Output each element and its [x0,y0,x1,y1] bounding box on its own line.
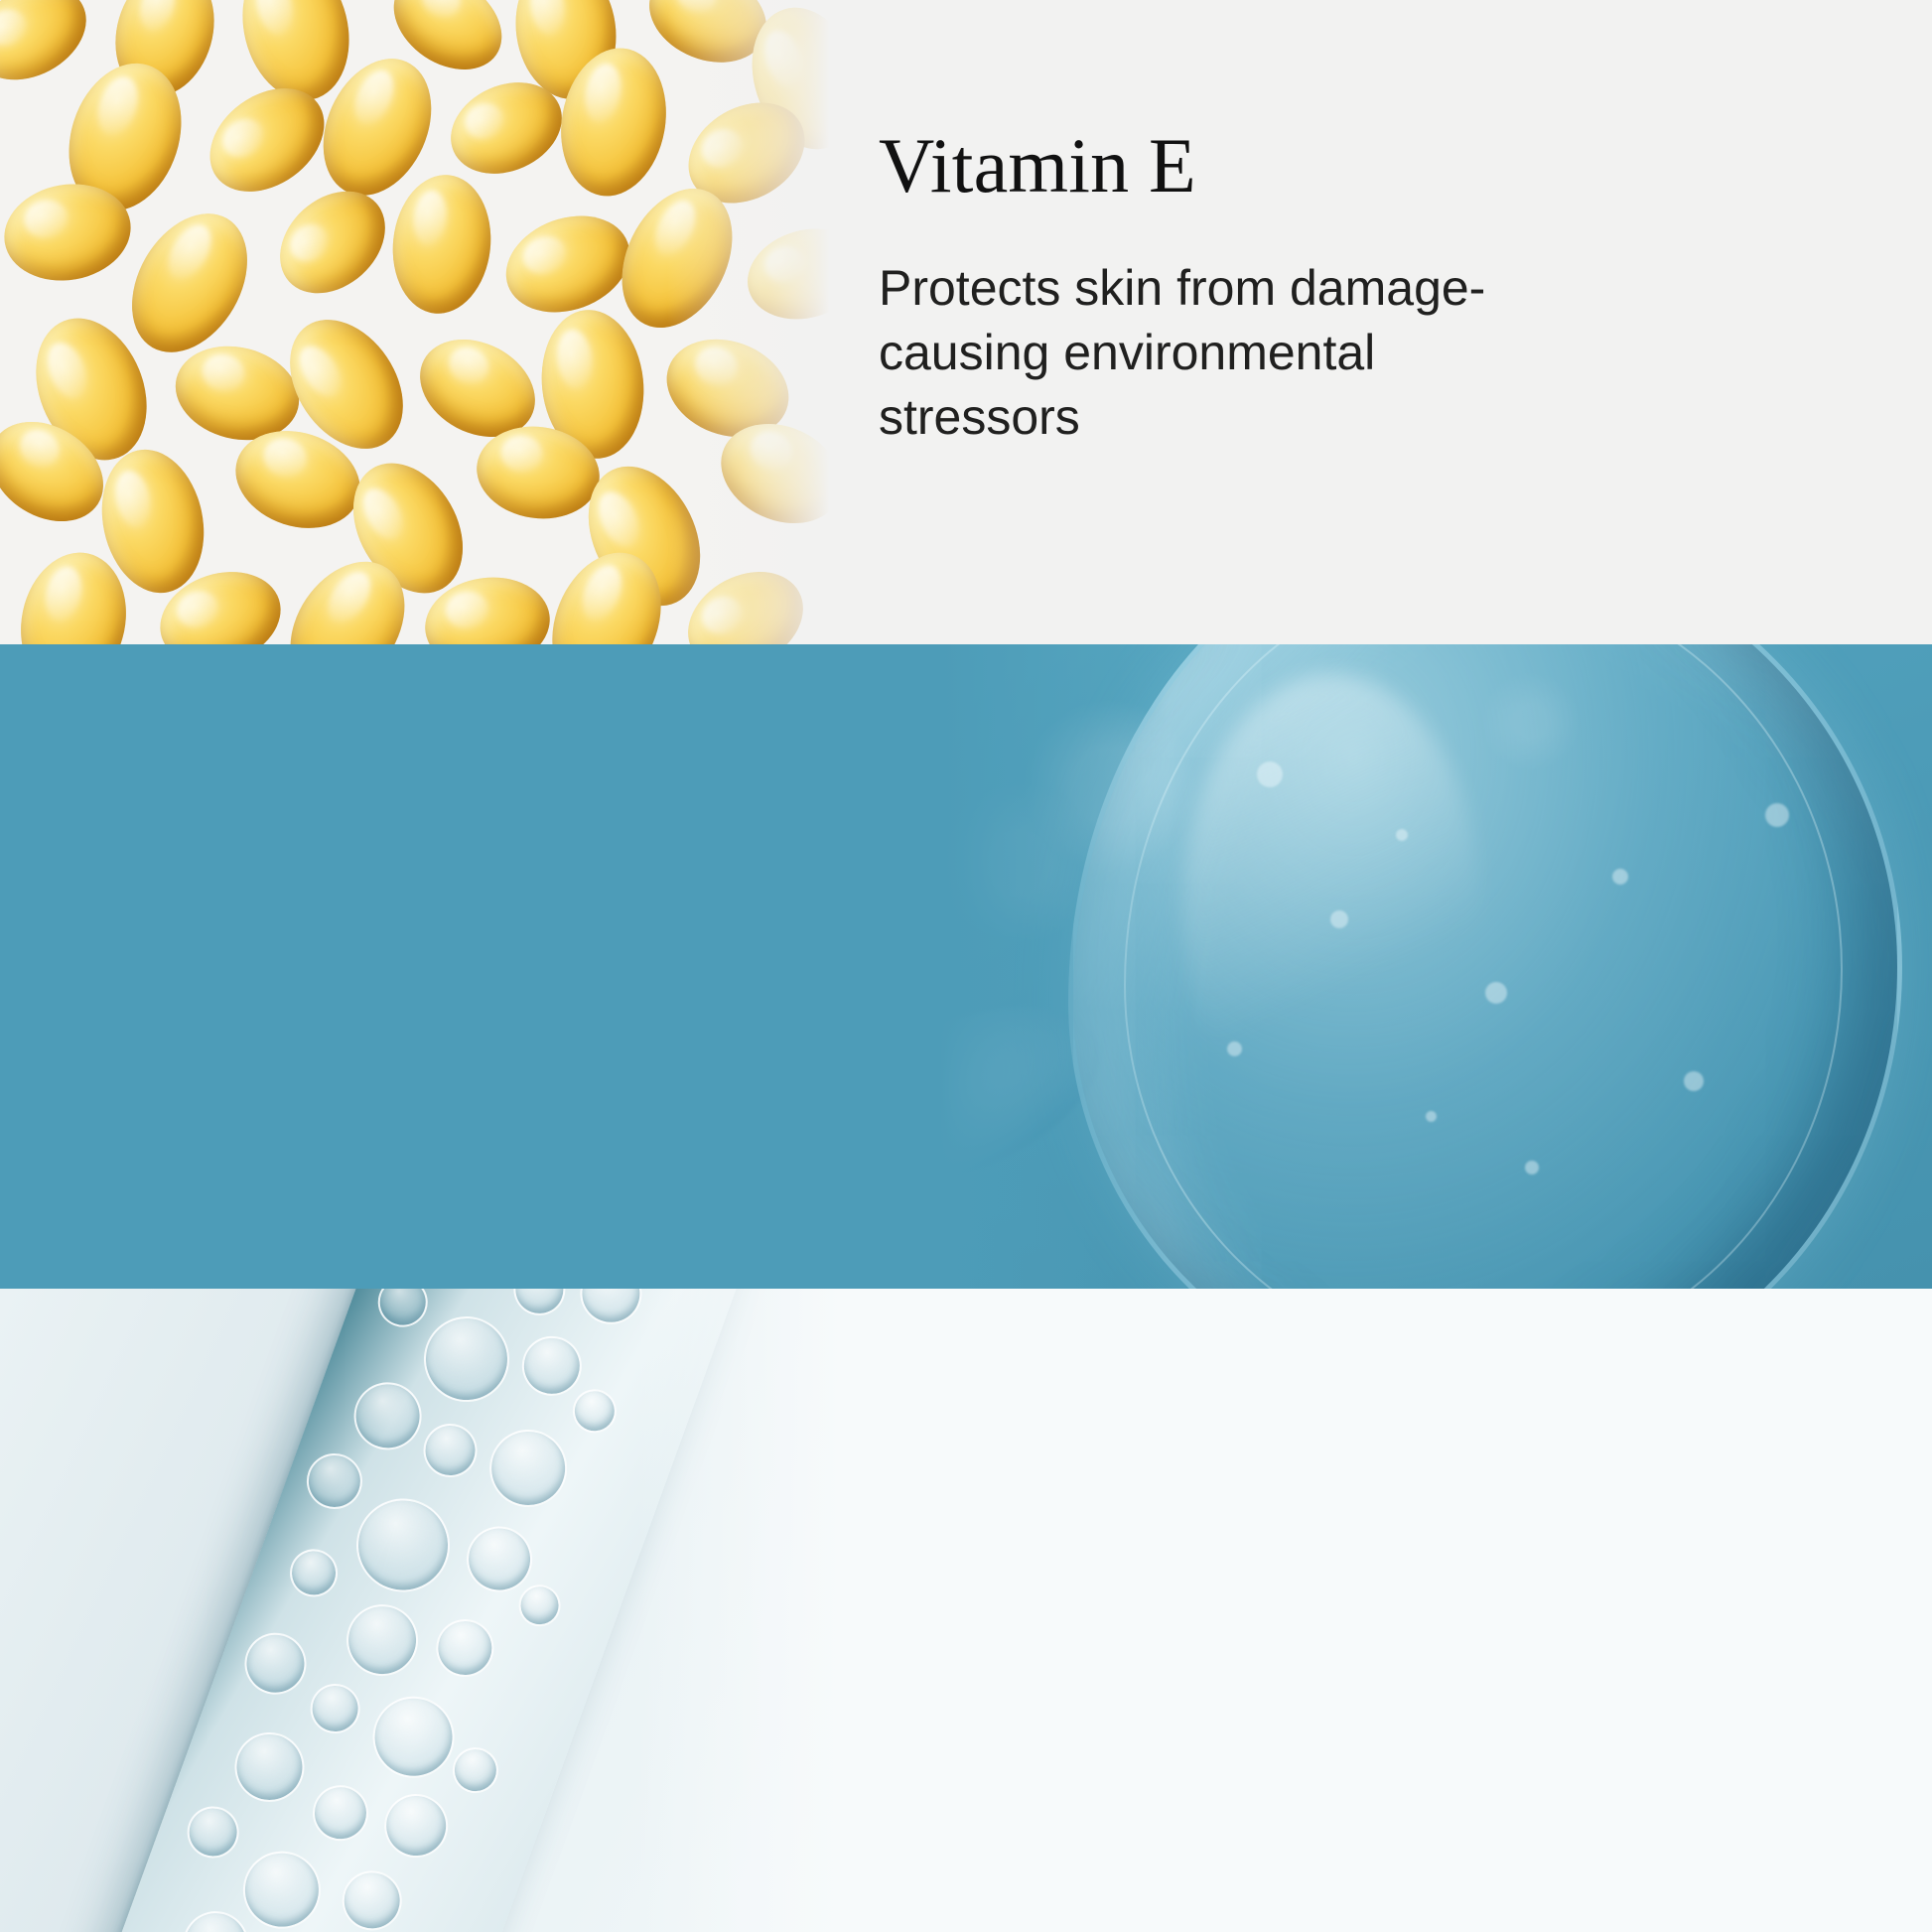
ingredient-benefits-infographic: Vitamin E Protects skin from damage-caus… [0,0,1932,1932]
panel-vitamin-e: Vitamin E Protects skin from damage-caus… [0,0,1932,644]
vitamin-e-body: Protects skin from damage-causing enviro… [879,256,1574,450]
vitamin-e-heading: Vitamin E [879,127,1871,205]
vitamin-e-gel-capsules-photo [0,0,856,644]
vitamin-e-copy-block: Vitamin E Protects skin from damage-caus… [879,127,1871,450]
panel-hyaluronic-acid: Hyaluronic Acid Promotes glowing skin wi… [0,644,1932,1289]
hyaluronic-acid-gel-droplet-photo [929,644,1932,1289]
panel-special-grade-niacinamide: Special-Grade Niacinamide Protects skin … [0,1289,1932,1932]
niacinamide-bubbles-macro-photo [0,1289,894,1932]
